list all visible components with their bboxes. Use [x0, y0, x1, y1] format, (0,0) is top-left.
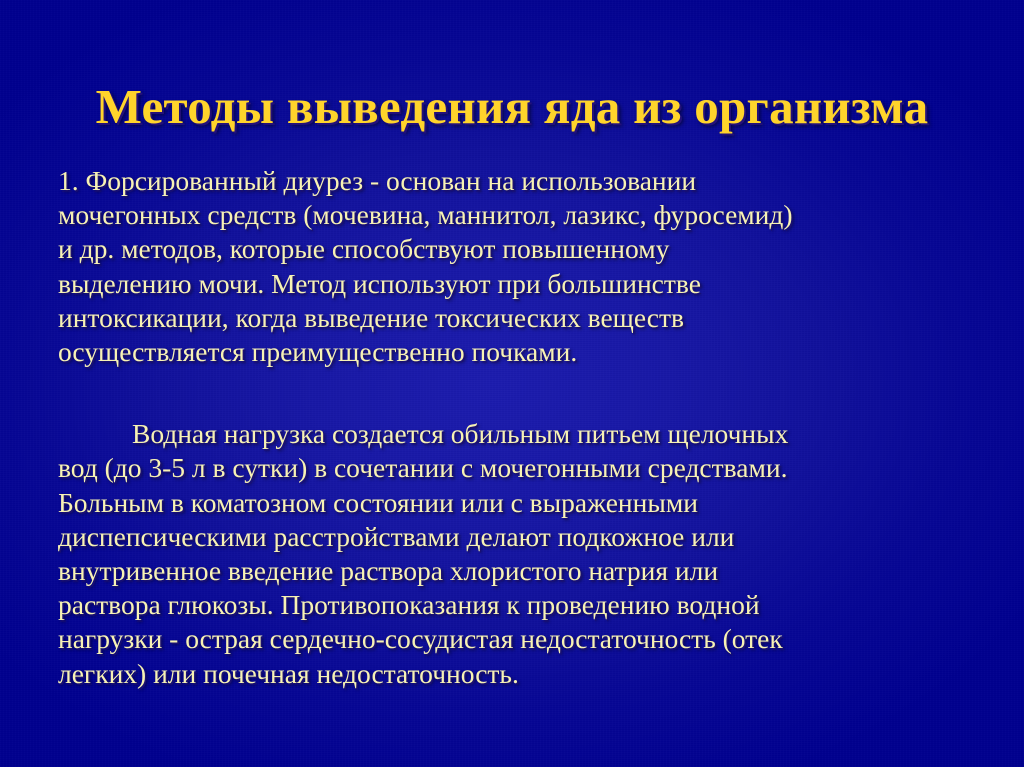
text-line: 1. Форсированный диурез - основан на исп… [58, 164, 970, 198]
text-line: Больным в коматозном состоянии или с выр… [58, 486, 970, 520]
text-line: Водная нагрузка создается обильным питье… [58, 417, 970, 451]
text-line: вод (до 3-5 л в сутки) в сочетании с моч… [58, 451, 970, 485]
slide-title: Методы выведения яда из организма [0, 79, 1024, 135]
text-line: раствора глюкозы. Противопоказания к про… [58, 588, 970, 622]
paragraph-forced-diuresis: 1. Форсированный диурез - основан на исп… [58, 164, 970, 369]
text-line: интоксикации, когда выведение токсически… [58, 301, 970, 335]
text-line: диспепсическими расстройствами делают по… [58, 520, 970, 554]
text-line: и др. методов, которые способствуют повы… [58, 232, 970, 266]
text-line: выделению мочи. Метод используют при бол… [58, 267, 970, 301]
text-line: внутривенное введение раствора хлористог… [58, 554, 970, 588]
text-line: мочегонных средств (мочевина, маннитол, … [58, 198, 970, 232]
text-line: нагрузки - острая сердечно-сосудистая не… [58, 622, 970, 656]
text-line: легких) или почечная недостаточность. [58, 657, 970, 691]
text-line: осуществляется преимущественно почками. [58, 335, 970, 369]
slide-canvas: Методы выведения яда из организма 1. Фор… [0, 0, 1024, 767]
slide-body: 1. Форсированный диурез - основан на исп… [58, 164, 970, 691]
paragraph-water-load: Водная нагрузка создается обильным питье… [58, 417, 970, 691]
